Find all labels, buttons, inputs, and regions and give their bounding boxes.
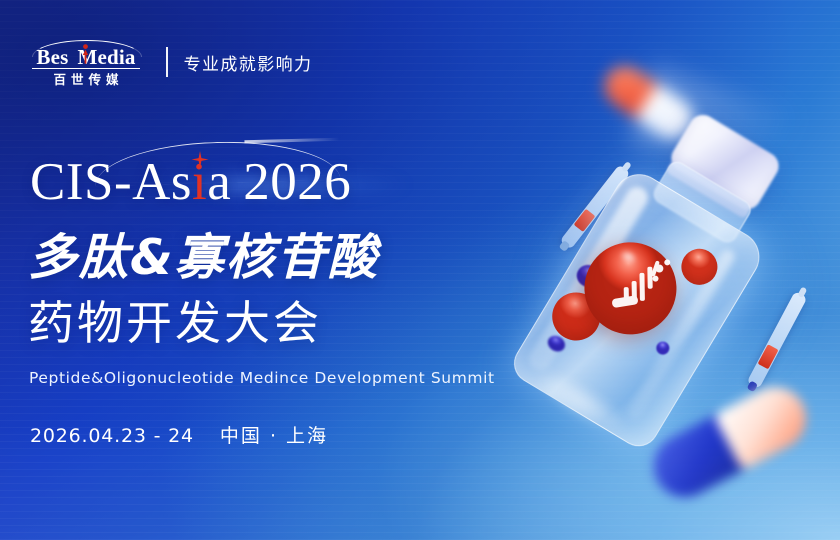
dna-helix-icon xyxy=(609,256,678,315)
blue-molecule-cluster-a xyxy=(573,261,605,292)
blue-molecule-cluster-c xyxy=(545,333,568,355)
event-subtitle-en: Peptide&Oligonucleotide Medince Developm… xyxy=(29,369,495,387)
red-molecule-sphere-small-2 xyxy=(675,242,724,291)
vial-highlight-right xyxy=(625,247,737,421)
event-title-cn-line2: 药物开发大会 xyxy=(28,300,322,346)
capsule-half-white xyxy=(635,84,700,146)
capsule-pill-icon-bottom xyxy=(643,378,813,508)
medicine-vial-icon xyxy=(494,115,830,481)
event-series-title: CIS-Asia2026 xyxy=(30,156,351,209)
capsule-half-orange xyxy=(713,376,816,470)
vial-cap-band xyxy=(666,160,752,219)
vial-base-glow xyxy=(508,345,654,457)
person-figure-icon xyxy=(82,44,89,64)
event-year: 2026 xyxy=(243,153,351,211)
best-media-logo: BesMedia 百世传媒 xyxy=(30,38,142,86)
logo-chinese-text: 百世传媒 xyxy=(30,69,142,88)
red-molecule-sphere-large xyxy=(567,225,693,351)
red-molecule-sphere-small-1 xyxy=(543,284,609,350)
vial-body xyxy=(507,165,769,454)
event-location: 中国 · 上海 xyxy=(220,425,328,447)
event-date-location: 2026.04.23 - 24中国 · 上海 xyxy=(30,421,328,448)
blue-molecule-cluster-b xyxy=(654,339,672,357)
capsule-pill-icon-top xyxy=(597,59,699,146)
artwork-glow xyxy=(470,120,840,450)
capsule-half-red xyxy=(597,59,662,121)
series-title-main: CIS-As xyxy=(30,153,192,211)
vial-highlight-left xyxy=(525,183,652,374)
light-streak xyxy=(629,66,840,207)
series-title-tail: a xyxy=(207,153,231,211)
series-title-accent-letter: i xyxy=(192,153,207,211)
syringe-icon-lower xyxy=(746,291,807,389)
capsule-half-blue xyxy=(643,412,750,508)
brand-slogan: 专业成就影响力 xyxy=(184,50,313,75)
conference-banner: BesMedia 百世传媒 专业成就影响力 xyxy=(0,0,840,540)
logo-en-left: Bes xyxy=(36,45,68,69)
brand-logo-bar: BesMedia 百世传媒 专业成就影响力 xyxy=(30,38,312,86)
event-title-cn-line1: 多肽&寡核苷酸 xyxy=(28,233,379,282)
syringe-icon-upper xyxy=(559,164,630,250)
logo-vertical-divider xyxy=(166,47,168,77)
event-date: 2026.04.23 - 24 xyxy=(30,425,194,447)
vial-neck xyxy=(650,158,754,246)
vial-cap-icon xyxy=(666,110,784,215)
